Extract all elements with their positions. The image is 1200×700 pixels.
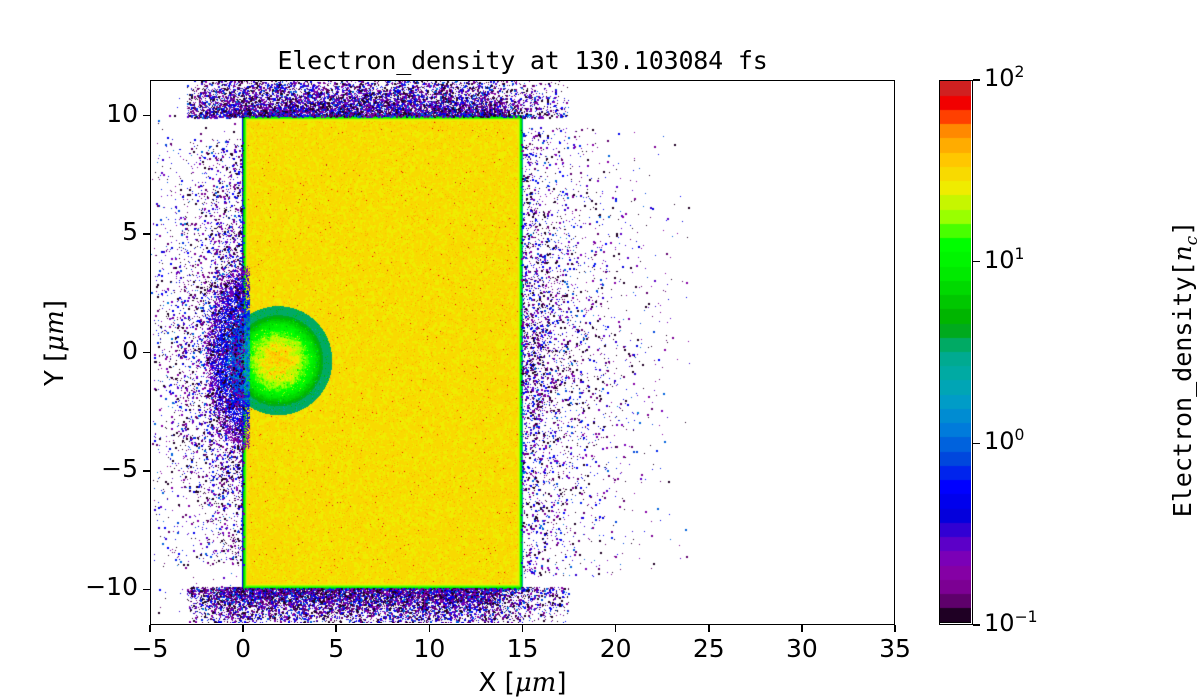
x-tick-mark — [335, 625, 337, 632]
x-axis-label: X [μm] — [150, 668, 895, 698]
y-tick-mark — [143, 470, 150, 472]
x-tick-label: 15 — [478, 634, 568, 663]
y-tick-mark — [143, 115, 150, 117]
density-heatmap — [151, 81, 893, 623]
y-tick-label: 5 — [58, 217, 138, 246]
x-tick-label: 20 — [571, 634, 661, 663]
y-tick-mark — [143, 589, 150, 591]
x-tick-label: 5 — [291, 634, 381, 663]
y-tick-mark — [143, 352, 150, 354]
colorbar-tick-mark — [973, 624, 980, 626]
colorbar-tick-label: 100 — [984, 426, 1024, 455]
colorbar-tick-exponent: −1 — [1015, 608, 1038, 626]
x-tick-mark — [429, 625, 431, 632]
colorbar-tick-mark — [973, 79, 980, 81]
x-axis-label-close: ] — [556, 668, 566, 698]
x-tick-mark — [615, 625, 617, 632]
y-tick-label: 10 — [58, 99, 138, 128]
x-tick-mark — [894, 625, 896, 632]
y-tick-label: −5 — [58, 454, 138, 483]
colorbar-label-symbol: n — [1168, 245, 1197, 261]
x-tick-label: 0 — [198, 634, 288, 663]
colorbar-label-subscript: c — [1182, 236, 1200, 246]
x-tick-mark — [242, 625, 244, 632]
colorbar-label: Electron_density[nc] — [1168, 159, 1200, 579]
matplotlib-figure: Electron_density at 130.103084 fs −50510… — [0, 0, 1200, 700]
x-tick-mark — [149, 625, 151, 632]
x-tick-mark — [522, 625, 524, 632]
colorbar-tick-exponent: 2 — [1015, 63, 1025, 81]
y-axis-label-text: Y [ — [40, 352, 70, 386]
plot-axes — [150, 80, 895, 625]
x-axis-unit: μm — [515, 668, 557, 698]
x-tick-mark — [708, 625, 710, 632]
page-title: Electron_density at 130.103084 fs — [150, 46, 895, 75]
x-axis-label-text: X [ — [479, 668, 515, 698]
x-tick-label: 10 — [384, 634, 474, 663]
colorbar-tick-label: 10−1 — [984, 608, 1038, 637]
colorbar-tick-base: 10 — [984, 609, 1015, 637]
colorbar-tick-label: 102 — [984, 63, 1024, 92]
y-tick-label: −10 — [58, 572, 138, 601]
y-axis-label-close: ] — [40, 300, 70, 310]
x-tick-label: 35 — [850, 634, 940, 663]
colorbar-label-close: ] — [1168, 221, 1197, 236]
y-axis-label: Y [μm] — [40, 243, 70, 443]
colorbar-tick-exponent: 1 — [1015, 245, 1025, 263]
colorbar-tick-base: 10 — [984, 64, 1015, 92]
colorbar-tick-base: 10 — [984, 427, 1015, 455]
colorbar-tick-base: 10 — [984, 246, 1015, 274]
colorbar-gradient — [940, 81, 971, 623]
x-tick-mark — [801, 625, 803, 632]
colorbar-tick-mark — [973, 261, 980, 263]
x-tick-label: 30 — [757, 634, 847, 663]
y-axis-unit: μm — [40, 310, 70, 352]
colorbar-tick-mark — [973, 443, 980, 445]
y-tick-mark — [143, 233, 150, 235]
x-tick-label: 25 — [664, 634, 754, 663]
colorbar-tick-label: 101 — [984, 245, 1024, 274]
colorbar — [939, 80, 973, 625]
colorbar-label-text: Electron_density[ — [1168, 261, 1197, 517]
colorbar-tick-exponent: 0 — [1015, 426, 1025, 444]
x-tick-label: −5 — [105, 634, 195, 663]
y-tick-label: 0 — [58, 336, 138, 365]
